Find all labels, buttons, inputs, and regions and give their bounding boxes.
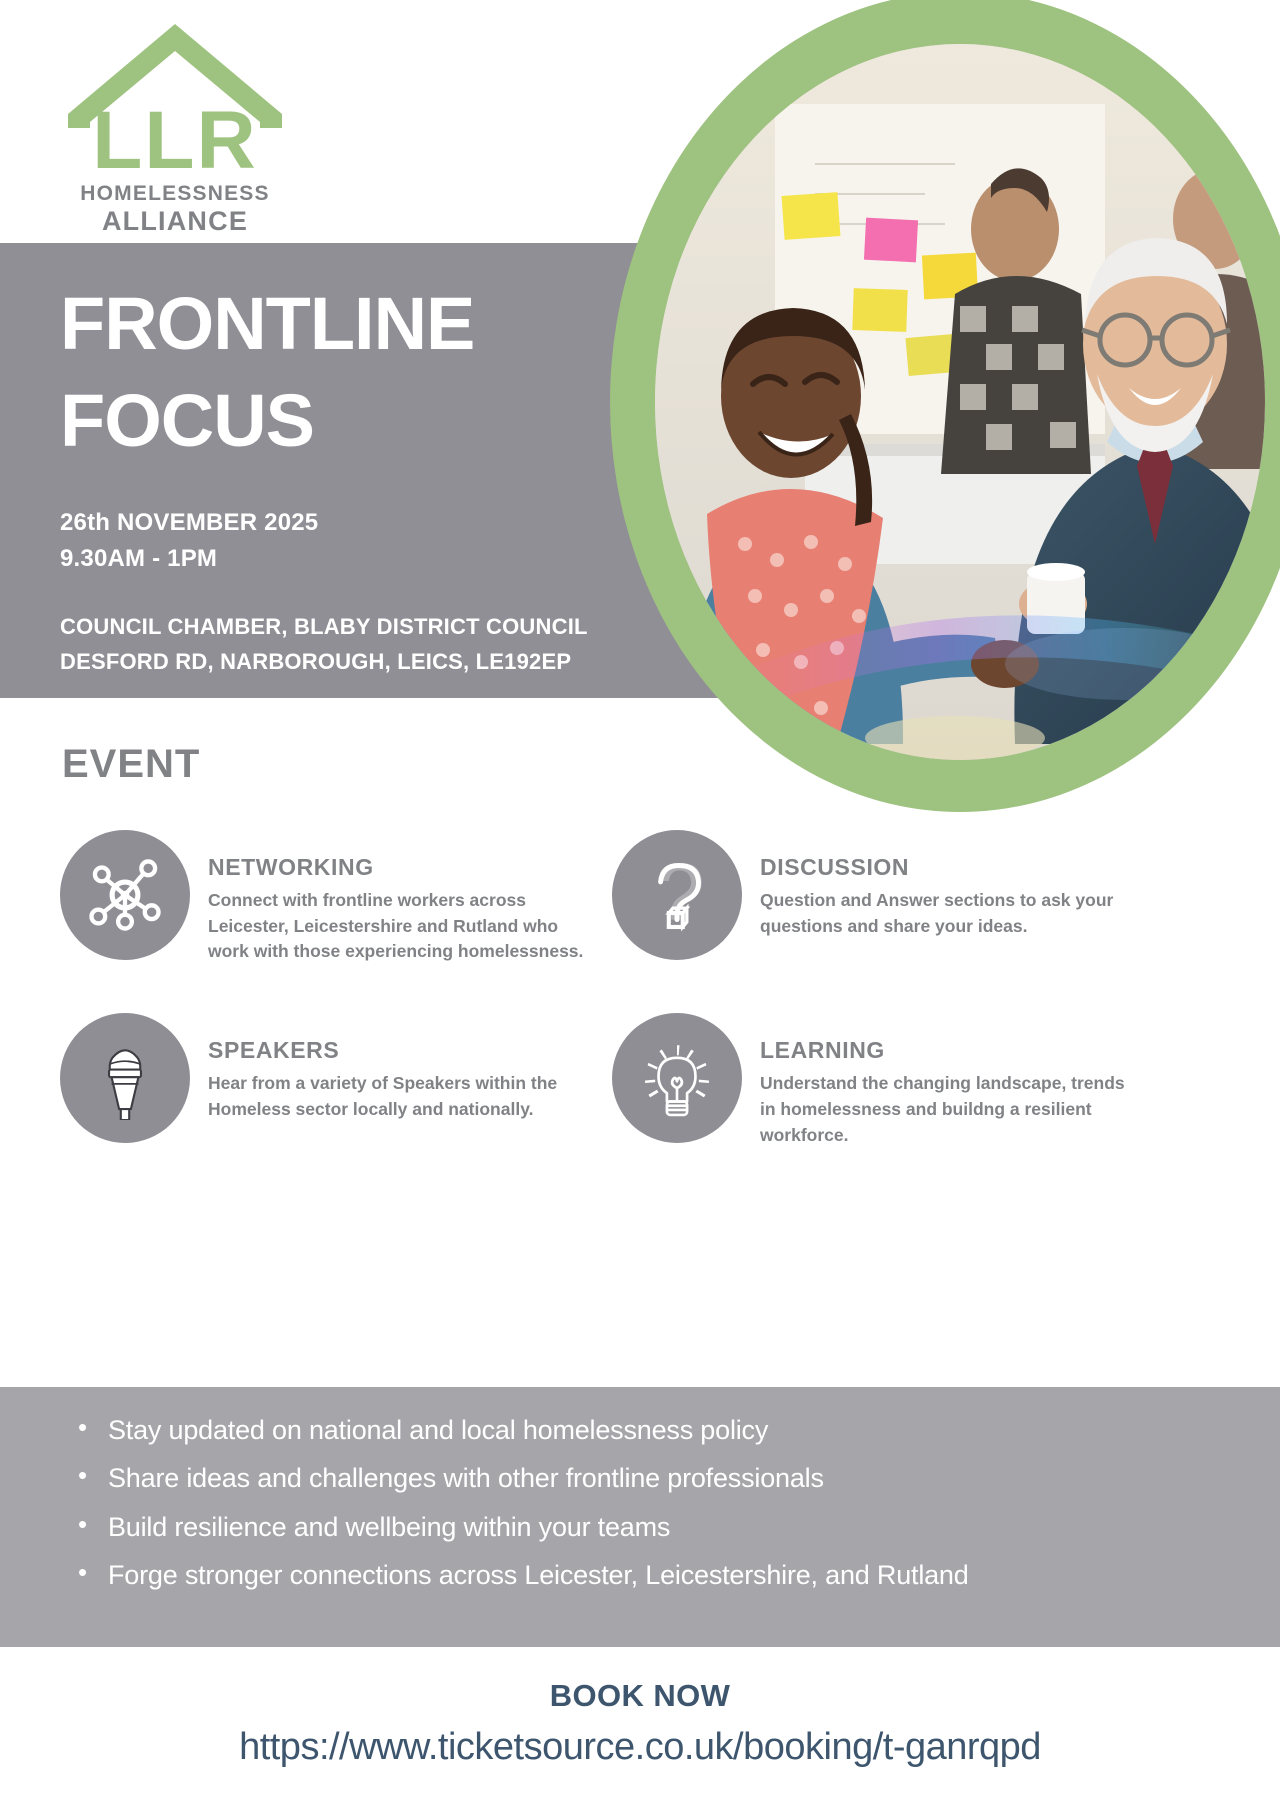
header-text-group: FRONTLINE FOCUS 26th NOVEMBER 2025 9.30A…: [60, 286, 760, 679]
event-venue: COUNCIL CHAMBER, BLABY DISTRICT COUNCIL …: [60, 609, 760, 679]
list-item: Share ideas and challenges with other fr…: [70, 1460, 1210, 1496]
list-item: Forge stronger connections across Leices…: [70, 1557, 1210, 1593]
venue-line-1: COUNCIL CHAMBER, BLABY DISTRICT COUNCIL: [60, 609, 760, 644]
microphone-icon: [60, 1013, 190, 1143]
benefits-list: Stay updated on national and local homel…: [70, 1412, 1210, 1606]
feature-body: Question and Answer sections to ask your…: [760, 888, 1142, 939]
feature-title: LEARNING: [760, 1037, 1142, 1064]
feature-networking: NETWORKING Connect with frontline worker…: [60, 830, 590, 965]
feature-body: Connect with frontline workers across Le…: [208, 888, 590, 965]
feature-title: SPEAKERS: [208, 1037, 590, 1064]
feature-speakers-text: SPEAKERS Hear from a variety of Speakers…: [208, 1013, 590, 1148]
question-mark-icon: [612, 830, 742, 960]
feature-learning: LEARNING Understand the changing landsca…: [612, 1013, 1142, 1148]
feature-title: DISCUSSION: [760, 854, 1142, 881]
event-date: 26th NOVEMBER 2025: [60, 505, 760, 541]
list-item: Stay updated on national and local homel…: [70, 1412, 1210, 1448]
feature-discussion-text: DISCUSSION Question and Answer sections …: [760, 830, 1142, 965]
booking-url-link[interactable]: https://www.ticketsource.co.uk/booking/t…: [0, 1726, 1280, 1769]
page-title-line2: FOCUS: [60, 383, 760, 458]
feature-body: Understand the changing landscape, trend…: [760, 1071, 1142, 1148]
book-now-label: BOOK NOW: [0, 1678, 1280, 1714]
feature-row-1: NETWORKING Connect with frontline worker…: [60, 830, 1160, 965]
logo: LLR HOMELESSNESS ALLIANCE: [60, 18, 290, 238]
venue-line-2: DESFORD RD, NARBOROUGH, LEICS, LE192EP: [60, 644, 760, 679]
event-datetime: 26th NOVEMBER 2025 9.30AM - 1PM: [60, 505, 760, 577]
logo-line-homelessness: HOMELESSNESS: [60, 182, 290, 206]
section-heading-event: EVENT: [62, 742, 200, 787]
logo-initials: LLR: [60, 100, 290, 182]
feature-row-2: SPEAKERS Hear from a variety of Speakers…: [60, 1013, 1160, 1148]
feature-learning-text: LEARNING Understand the changing landsca…: [760, 1013, 1142, 1148]
feature-title: NETWORKING: [208, 854, 590, 881]
footer: BOOK NOW https://www.ticketsource.co.uk/…: [0, 1678, 1280, 1769]
lightbulb-icon: [612, 1013, 742, 1143]
page-title-line1: FRONTLINE: [60, 286, 760, 361]
logo-line-alliance: ALLIANCE: [60, 206, 290, 237]
feature-grid: NETWORKING Connect with frontline worker…: [60, 830, 1160, 1148]
feature-discussion: DISCUSSION Question and Answer sections …: [612, 830, 1142, 965]
feature-speakers: SPEAKERS Hear from a variety of Speakers…: [60, 1013, 590, 1148]
list-item: Build resilience and wellbeing within yo…: [70, 1509, 1210, 1545]
feature-networking-text: NETWORKING Connect with frontline worker…: [208, 830, 590, 965]
feature-body: Hear from a variety of Speakers within t…: [208, 1071, 590, 1122]
event-time: 9.30AM - 1PM: [60, 541, 760, 577]
network-nodes-icon: [60, 830, 190, 960]
